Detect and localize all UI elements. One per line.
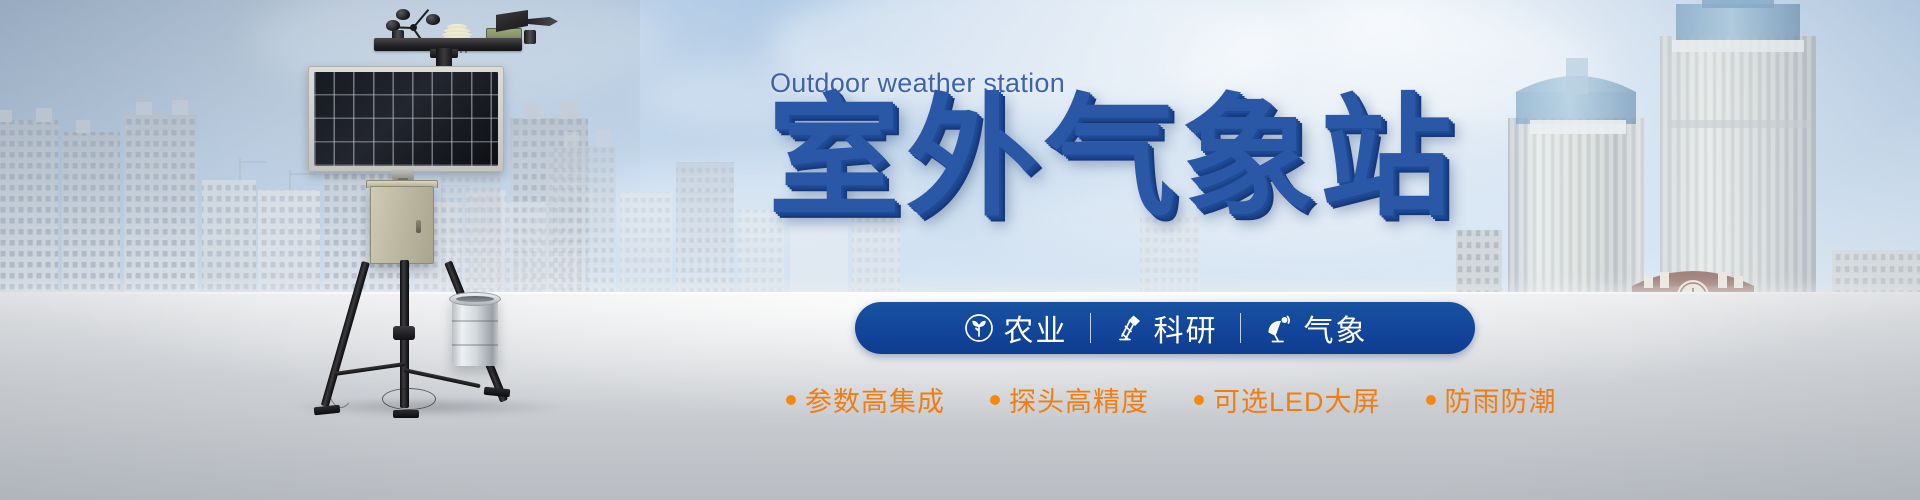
feature-item: 探头高精度 bbox=[990, 380, 1149, 419]
plant-sprout-icon bbox=[963, 312, 995, 344]
feature-label: 防雨防潮 bbox=[1445, 380, 1557, 419]
pill-label-agriculture: 农业 bbox=[1004, 306, 1068, 350]
bullet-dot-icon bbox=[786, 395, 796, 405]
feature-list: 参数高集成 探头高精度 可选LED大屏 防雨防潮 bbox=[786, 380, 1557, 419]
solar-panel bbox=[308, 66, 504, 172]
tripod bbox=[300, 260, 560, 418]
pill-item-research[interactable]: 科研 bbox=[1091, 306, 1240, 350]
bullet-dot-icon bbox=[990, 395, 1000, 405]
ground-horizon-line bbox=[0, 292, 1920, 294]
feature-label: 参数高集成 bbox=[805, 380, 945, 419]
rain-gauge-band bbox=[452, 320, 498, 322]
feature-item: 参数高集成 bbox=[786, 380, 945, 419]
feature-item: 可选LED大屏 bbox=[1194, 380, 1381, 419]
cabinet-lock-icon bbox=[416, 220, 421, 233]
microscope-icon bbox=[1113, 312, 1145, 344]
pill-item-meteorology[interactable]: 气象 bbox=[1241, 306, 1390, 350]
wind-vane-post bbox=[524, 30, 536, 44]
banner-title: 室外气象站 bbox=[768, 92, 1458, 224]
solar-cells bbox=[314, 72, 498, 166]
rain-gauge-rim bbox=[449, 292, 501, 306]
feature-label: 可选LED大屏 bbox=[1213, 380, 1381, 419]
controller-cabinet bbox=[370, 186, 434, 264]
bullet-dot-icon bbox=[1426, 395, 1436, 405]
pill-label-research: 科研 bbox=[1154, 306, 1218, 350]
feature-item: 防雨防潮 bbox=[1426, 380, 1557, 419]
pill-label-meteorology: 气象 bbox=[1304, 306, 1368, 350]
promo-banner: Outdoor weather station 室外气象站 农业 bbox=[0, 0, 1920, 500]
feature-label: 探头高精度 bbox=[1009, 380, 1149, 419]
outdoor-weather-station bbox=[300, 8, 560, 420]
satellite-dish-icon bbox=[1263, 312, 1295, 344]
pill-item-agriculture[interactable]: 农业 bbox=[941, 306, 1090, 350]
rain-gauge bbox=[452, 296, 498, 366]
application-pill: 农业 科研 bbox=[855, 302, 1475, 354]
rain-gauge-band bbox=[452, 344, 498, 346]
bullet-dot-icon bbox=[1194, 395, 1204, 405]
